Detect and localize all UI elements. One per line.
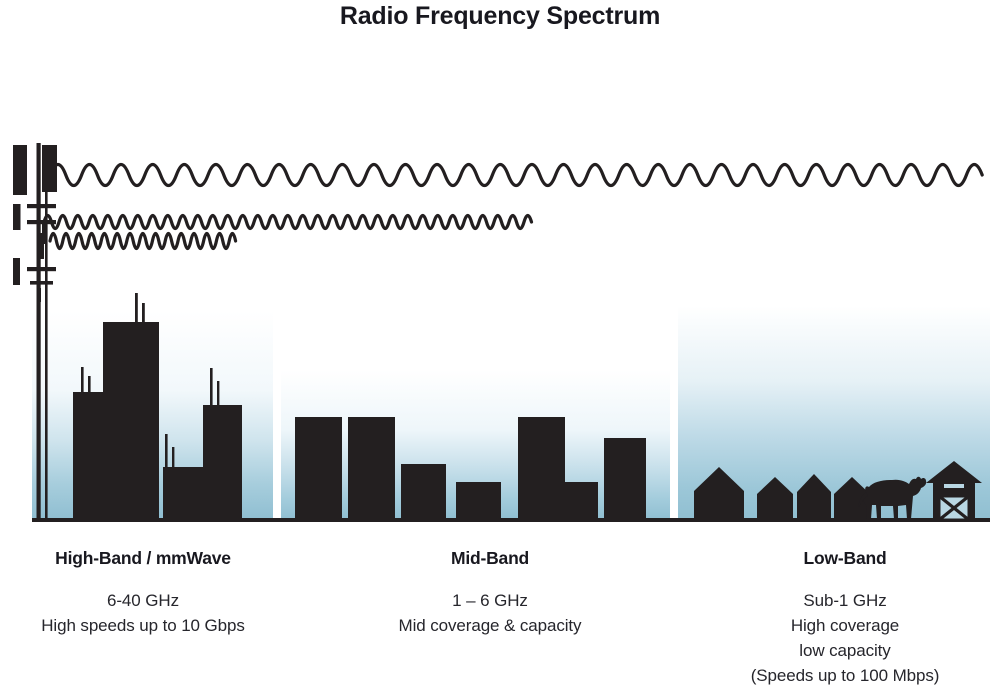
band-label-high: High-Band / mmWave bbox=[0, 548, 286, 569]
band-desc-line: 1 – 6 GHz bbox=[340, 588, 640, 613]
tower-mast bbox=[37, 143, 41, 521]
tower-crossbar-4 bbox=[30, 281, 53, 285]
building-spire bbox=[172, 447, 174, 469]
tower-antenna-panel-6 bbox=[39, 233, 44, 259]
tower-crossbar-3 bbox=[27, 267, 56, 271]
tower-antenna-panel-5 bbox=[13, 258, 20, 285]
suburban-building bbox=[604, 438, 646, 520]
suburban-building bbox=[456, 482, 501, 520]
band-description-low: Sub-1 GHz High coverage low capacity (Sp… bbox=[700, 588, 990, 688]
band-label-low: Low-Band bbox=[700, 548, 990, 569]
tower-antenna-panel-1 bbox=[13, 145, 27, 195]
band-desc-line: 6-40 GHz bbox=[0, 588, 286, 613]
suburban-building bbox=[401, 464, 446, 520]
suburban-building bbox=[348, 417, 395, 520]
band-desc-line: low capacity bbox=[700, 638, 990, 663]
long-wavelength-wave bbox=[50, 165, 982, 186]
band-desc-line: (Speeds up to 100 Mbps) bbox=[700, 663, 990, 688]
tower-antenna-panel-2 bbox=[42, 145, 57, 192]
barn-hayloft-window bbox=[944, 484, 964, 488]
suburban-building bbox=[295, 417, 342, 520]
tower-crossbar-2 bbox=[27, 220, 56, 224]
tower-mast-secondary bbox=[45, 160, 48, 520]
city-building bbox=[103, 322, 159, 520]
building-spire bbox=[81, 367, 84, 394]
band-desc-line: High coverage bbox=[700, 613, 990, 638]
spectrum-illustration bbox=[0, 0, 1000, 540]
building-spire bbox=[88, 376, 91, 394]
infographic-canvas: Radio Frequency Spectrum bbox=[0, 0, 1000, 700]
tower-crossbar-1 bbox=[27, 204, 56, 208]
radio-waves bbox=[44, 165, 982, 249]
band-desc-line: Sub-1 GHz bbox=[700, 588, 990, 613]
band-label-mid: Mid-Band bbox=[340, 548, 640, 569]
building-spire bbox=[210, 368, 213, 406]
city-building bbox=[203, 405, 242, 520]
building-spire bbox=[217, 381, 219, 407]
city-building bbox=[73, 392, 103, 520]
tower-antenna-panel-3 bbox=[13, 204, 21, 230]
band-description-mid: 1 – 6 GHz Mid coverage & capacity bbox=[340, 588, 640, 638]
band-description-high: 6-40 GHz High speeds up to 10 Gbps bbox=[0, 588, 286, 638]
building-spire bbox=[165, 434, 168, 468]
band-desc-line: High speeds up to 10 Gbps bbox=[0, 613, 286, 638]
building-spire bbox=[142, 303, 145, 324]
band-desc-line: Mid coverage & capacity bbox=[340, 613, 640, 638]
tower-base-stub bbox=[38, 288, 41, 302]
suburban-building bbox=[565, 482, 598, 520]
building-spire bbox=[135, 293, 138, 323]
suburban-building bbox=[518, 417, 565, 520]
medium-wavelength-wave bbox=[44, 216, 532, 229]
short-wavelength-wave bbox=[50, 234, 236, 249]
city-building bbox=[163, 467, 203, 520]
